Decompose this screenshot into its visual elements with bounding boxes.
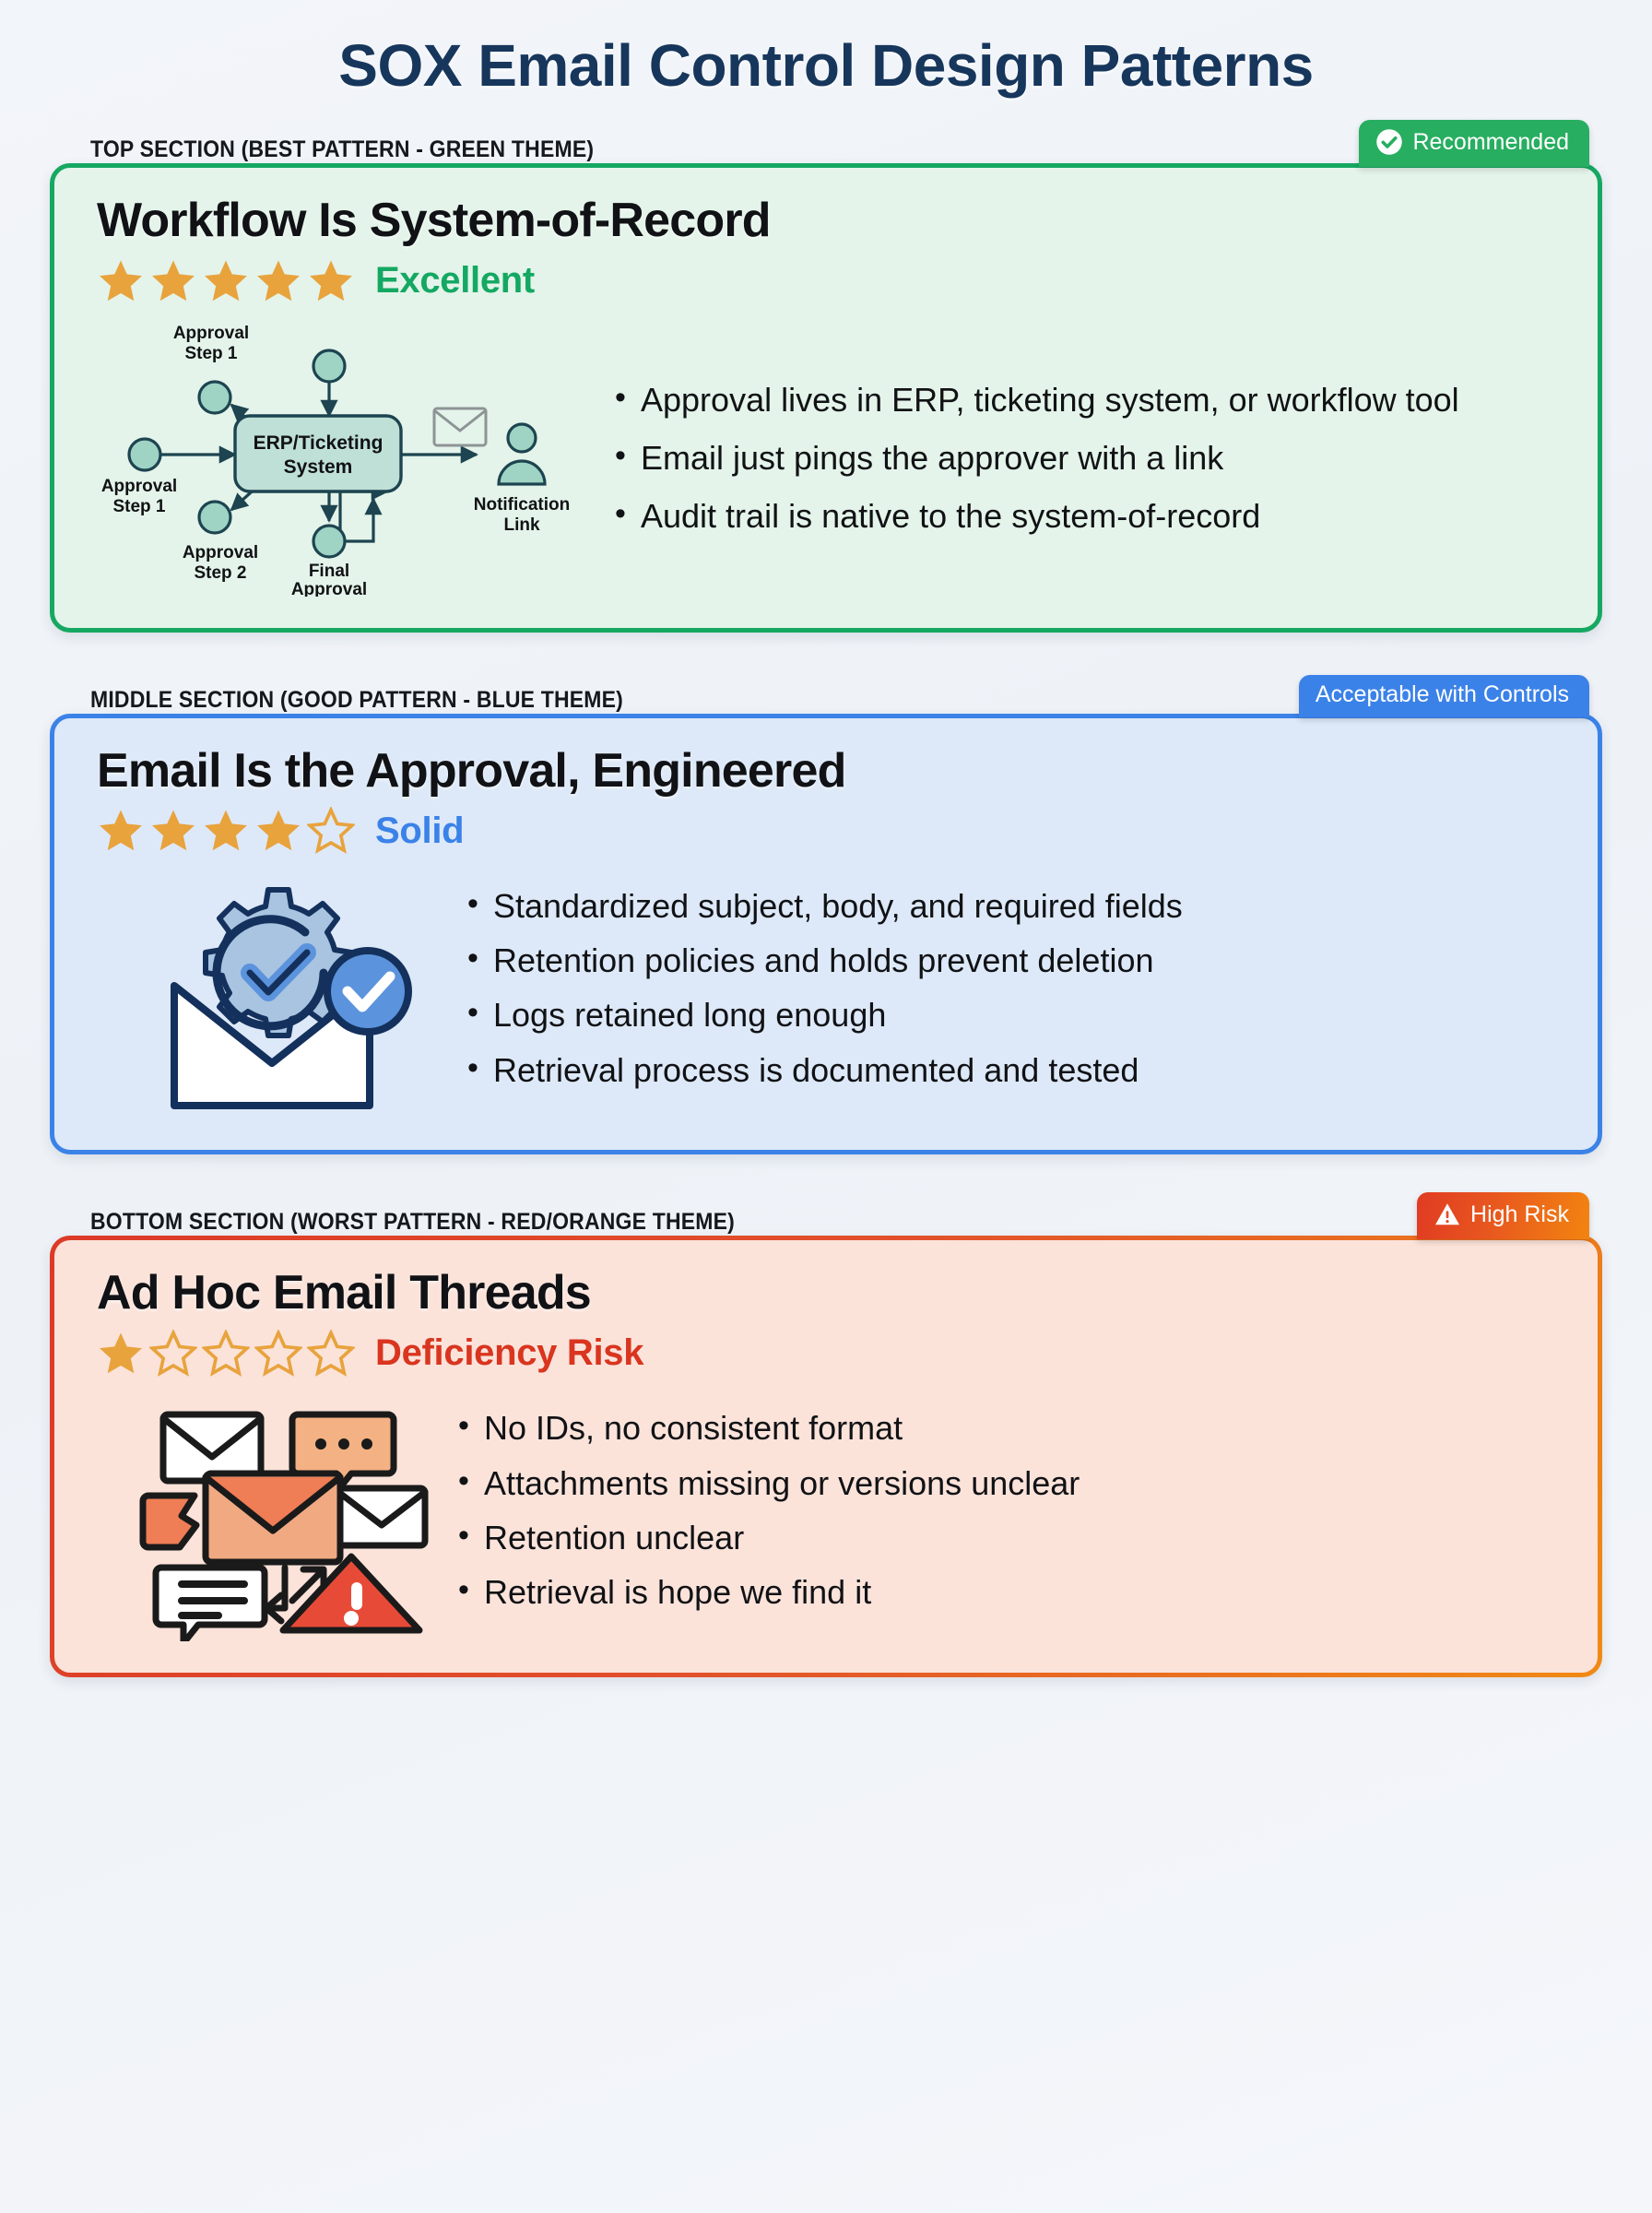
svg-text:Approval: Approval <box>173 324 249 343</box>
card-workflow-system-of-record: Workflow Is System-of-Record Excellent <box>50 163 1602 633</box>
status-badge-acceptable-with-controls[interactable]: Acceptable with Controls <box>1299 675 1589 717</box>
section-middle: MIDDLE SECTION (GOOD PATTERN - BLUE THEM… <box>50 671 1602 1155</box>
star-filled-icon <box>97 807 145 855</box>
list-item: Retrieval process is documented and test… <box>466 1049 1561 1091</box>
chat-bubble-lines-icon <box>156 1568 265 1641</box>
star-outline-icon <box>307 1330 355 1378</box>
section-top-header: TOP SECTION (BEST PATTERN - GREEN THEME)… <box>50 121 1602 163</box>
star-rating-1-of-5 <box>97 1330 355 1378</box>
envelope-icon <box>338 1488 425 1545</box>
section-middle-label: MIDDLE SECTION (GOOD PATTERN - BLUE THEM… <box>90 687 623 714</box>
check-circle-icon <box>1375 128 1403 156</box>
status-badge-recommended[interactable]: Recommended <box>1359 120 1589 167</box>
status-badge-recommended-label: Recommended <box>1412 131 1569 154</box>
star-filled-icon <box>254 807 302 855</box>
engineered-email-icon <box>97 870 447 1118</box>
status-badge-acceptable-label: Acceptable with Controls <box>1316 683 1569 706</box>
star-filled-icon <box>307 257 355 305</box>
svg-text:Notification: Notification <box>474 495 571 515</box>
svg-text:Step 2: Step 2 <box>194 563 246 583</box>
card-top-title: Workflow Is System-of-Record <box>97 195 1561 246</box>
list-item: Retention unclear <box>456 1517 1561 1558</box>
card-middle-title: Email Is the Approval, Engineered <box>97 746 1561 797</box>
card-top-bullets: Approval lives in ERP, ticketing system,… <box>613 379 1561 538</box>
svg-text:Link: Link <box>503 515 539 535</box>
card-ad-hoc-email-threads: Ad Hoc Email Threads Deficiency Risk <box>50 1236 1602 1677</box>
card-middle-body: Standardized subject, body, and required… <box>97 870 1561 1118</box>
chaotic-email-icon <box>97 1392 438 1641</box>
warning-triangle-icon <box>1434 1201 1461 1228</box>
card-email-is-the-approval: Email Is the Approval, Engineered Solid <box>50 714 1602 1155</box>
rating-label-deficiency-risk: Deficiency Risk <box>375 1332 643 1374</box>
card-bottom-bullets: No IDs, no consistent format Attachments… <box>456 1407 1561 1626</box>
status-badge-high-risk[interactable]: High Risk <box>1417 1192 1589 1239</box>
star-outline-icon <box>149 1330 197 1378</box>
svg-text:ERP/Ticketing: ERP/Ticketing <box>254 432 383 454</box>
star-filled-icon <box>202 257 250 305</box>
svg-text:Step 1: Step 1 <box>184 344 237 363</box>
svg-text:Final: Final <box>309 562 349 581</box>
section-bottom: BOTTOM SECTION (WORST PATTERN - RED/ORAN… <box>50 1193 1602 1677</box>
list-item: Attachments missing or versions unclear <box>456 1462 1561 1504</box>
list-item: Standardized subject, body, and required… <box>466 885 1561 927</box>
star-filled-icon <box>149 257 197 305</box>
card-bottom-rating: Deficiency Risk <box>97 1330 1561 1378</box>
card-bottom-title: Ad Hoc Email Threads <box>97 1268 1561 1319</box>
list-item: Audit trail is native to the system-of-r… <box>613 495 1561 537</box>
section-middle-header: MIDDLE SECTION (GOOD PATTERN - BLUE THEM… <box>50 671 1602 714</box>
star-filled-icon <box>202 807 250 855</box>
list-item: Retrieval is hope we find it <box>456 1571 1561 1613</box>
card-middle-bullets: Standardized subject, body, and required… <box>466 885 1561 1104</box>
star-outline-icon <box>254 1330 302 1378</box>
card-top-rating: Excellent <box>97 257 1561 305</box>
svg-text:System: System <box>284 456 353 478</box>
svg-text:Approval: Approval <box>291 580 367 597</box>
section-bottom-label: BOTTOM SECTION (WORST PATTERN - RED/ORAN… <box>90 1209 735 1236</box>
star-filled-icon <box>254 257 302 305</box>
rating-label-excellent: Excellent <box>375 260 535 302</box>
person-icon <box>499 424 545 484</box>
list-item: Retention policies and holds prevent del… <box>466 940 1561 981</box>
check-circle-icon <box>327 951 408 1032</box>
list-item: Logs retained long enough <box>466 994 1561 1035</box>
page-title: SOX Email Control Design Patterns <box>50 35 1602 97</box>
svg-text:Approval: Approval <box>183 543 258 562</box>
list-item: No IDs, no consistent format <box>456 1407 1561 1449</box>
section-top: TOP SECTION (BEST PATTERN - GREEN THEME)… <box>50 121 1602 633</box>
star-rating-5-of-5 <box>97 257 355 305</box>
star-outline-icon <box>202 1330 250 1378</box>
star-rating-4-of-5 <box>97 807 355 855</box>
section-top-label: TOP SECTION (BEST PATTERN - GREEN THEME) <box>90 136 594 163</box>
rating-label-solid: Solid <box>375 811 464 852</box>
workflow-diagram: ERP/Ticketing System <box>97 320 595 597</box>
status-badge-high-risk-label: High Risk <box>1470 1203 1569 1226</box>
envelope-icon <box>434 408 486 445</box>
list-item: Approval lives in ERP, ticketing system,… <box>613 379 1561 420</box>
card-bottom-body: No IDs, no consistent format Attachments… <box>97 1392 1561 1641</box>
envelope-icon-primary <box>206 1473 340 1562</box>
svg-text:Approval: Approval <box>101 477 177 496</box>
list-item: Email just pings the approver with a lin… <box>613 437 1561 479</box>
star-outline-icon <box>307 807 355 855</box>
star-filled-icon <box>97 257 145 305</box>
section-bottom-header: BOTTOM SECTION (WORST PATTERN - RED/ORAN… <box>50 1193 1602 1236</box>
card-middle-rating: Solid <box>97 807 1561 855</box>
broken-message-icon <box>143 1496 196 1547</box>
card-top-body: ERP/Ticketing System <box>97 320 1561 597</box>
star-filled-icon <box>97 1330 145 1378</box>
svg-text:Step 1: Step 1 <box>112 497 165 516</box>
star-filled-icon <box>149 807 197 855</box>
